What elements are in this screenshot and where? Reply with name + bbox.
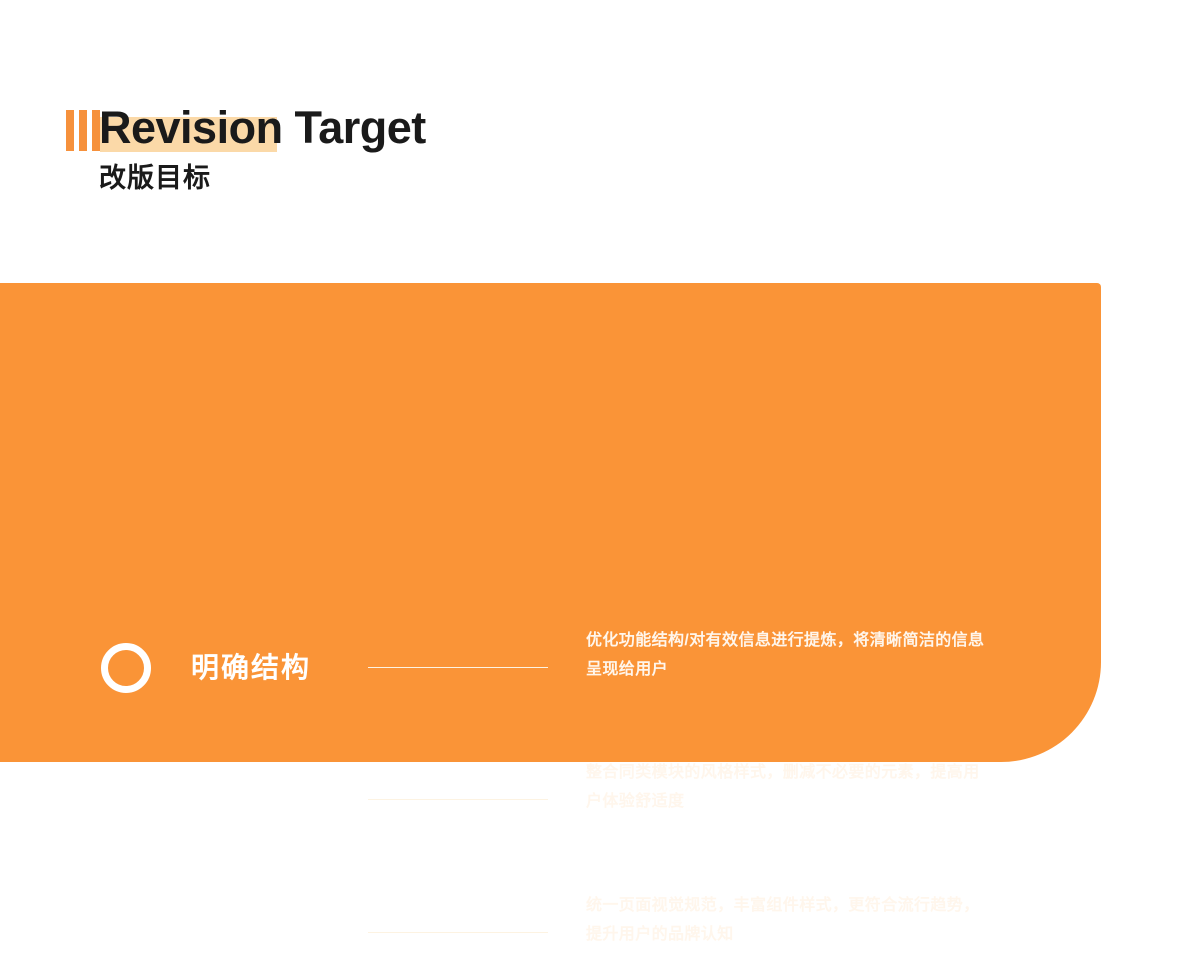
goal-label: 框架优化: [191, 777, 311, 823]
goals-panel: 明确结构 优化功能结构/对有效信息进行提炼，将清晰简洁的信息呈现给用户 框架优化…: [0, 283, 1101, 762]
slide-header: Revision Target 改版目标: [66, 100, 766, 210]
page-title-chinese: 改版目标: [99, 160, 211, 196]
ring-icon: [101, 775, 151, 825]
accent-bar-1: [66, 110, 74, 151]
accent-bar-2: [79, 110, 87, 151]
goal-list: 明确结构 优化功能结构/对有效信息进行提炼，将清晰简洁的信息呈现给用户 框架优化…: [0, 283, 1101, 762]
goal-item-3: 视觉重塑 统一页面视觉规范，丰富组件样式，更符合流行趋势，提升用户的品牌认知: [0, 903, 1101, 973]
accent-bars-decoration: [66, 110, 100, 151]
goal-label: 视觉重塑: [191, 910, 311, 956]
connector-line: [368, 932, 548, 933]
ring-icon: [101, 643, 151, 693]
connector-line: [368, 799, 548, 800]
title-row: Revision Target: [66, 100, 766, 158]
goal-item-1: 明确结构 优化功能结构/对有效信息进行提炼，将清晰简洁的信息呈现给用户: [0, 638, 1101, 708]
goal-label: 明确结构: [191, 645, 311, 691]
goal-description: 统一页面视觉规范，丰富组件样式，更符合流行趋势，提升用户的品牌认知: [586, 891, 986, 949]
ring-icon: [101, 908, 151, 958]
goal-description: 优化功能结构/对有效信息进行提炼，将清晰简洁的信息呈现给用户: [586, 626, 986, 684]
page-title-english: Revision Target: [99, 100, 426, 156]
goal-item-2: 框架优化 整合同类模块的风格样式，删减不必要的元素，提高用户体验舒适度: [0, 770, 1101, 840]
goal-description: 整合同类模块的风格样式，删减不必要的元素，提高用户体验舒适度: [586, 758, 986, 816]
connector-line: [368, 667, 548, 668]
